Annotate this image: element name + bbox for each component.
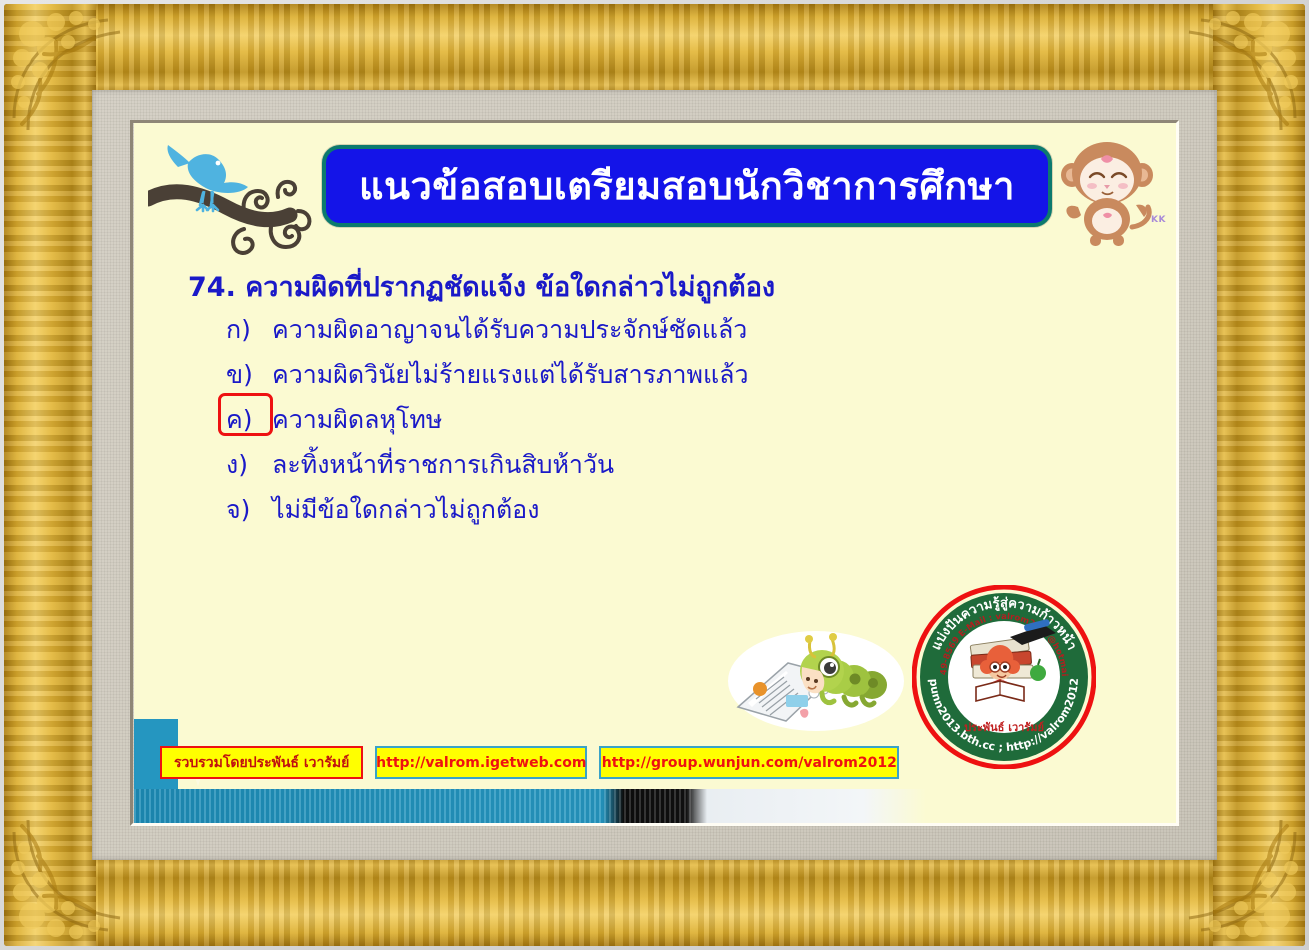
choice-label: ละทิ้งหน้าที่ราชการเกินสิบห้าวัน	[272, 445, 1126, 485]
monkey-mascot-icon	[1054, 135, 1162, 247]
caterpillar-reading-newspaper-icon	[726, 623, 906, 733]
choice-item-selected[interactable]: ค) ความผิดลหุโทษ	[226, 400, 1126, 445]
choice-key: จ)	[226, 490, 272, 530]
choice-item[interactable]: จ) ไม่มีข้อใดกล่าวไม่ถูกต้อง	[226, 490, 1126, 535]
choice-label: ไม่มีข้อใดกล่าวไม่ถูกต้อง	[272, 490, 1126, 530]
footer-link-igetweb[interactable]: http://valrom.igetweb.com	[375, 746, 587, 779]
question-text: 74. ความผิดที่ปรากฏชัดแจ้ง ข้อใดกล่าวไม่…	[188, 265, 775, 308]
choice-key: ง)	[226, 445, 272, 485]
choice-item[interactable]: ง) ละทิ้งหน้าที่ราชการเกินสิบห้าวัน	[226, 445, 1126, 490]
choice-key-highlighted: ค)	[226, 400, 272, 440]
bird-on-branch-icon	[148, 137, 348, 257]
slide-title: แนวข้อสอบเตรียมสอบนักวิชาการศึกษา	[359, 167, 1015, 205]
stamp-owner-name: ประพันธ์ เวารัมย์	[964, 721, 1044, 734]
picture-frame: แนวข้อสอบเตรียมสอบนักวิชาการศึกษา	[4, 4, 1305, 946]
footer-credit-box[interactable]: รวบรวมโดยประพันธ์ เวารัมย์	[160, 746, 363, 779]
choice-key: ข)	[226, 355, 272, 395]
choice-item[interactable]: ก) ความผิดอาญาจนได้รับความประจักษ์ชัดแล้…	[226, 310, 1126, 355]
organization-stamp-badge: แบ่งปันความรู้สู่ความก้าวหน้า http://pun…	[912, 585, 1096, 769]
choice-key: ก)	[226, 310, 272, 350]
footer-link-wunjun[interactable]: http://group.wunjun.com/valrom2012	[599, 746, 899, 779]
slide-title-banner: แนวข้อสอบเตรียมสอบนักวิชาการศึกษา	[322, 145, 1052, 227]
presentation-slide: แนวข้อสอบเตรียมสอบนักวิชาการศึกษา	[134, 123, 1176, 823]
bottom-decor-band-stripes	[134, 789, 694, 823]
choice-label: ความผิดลหุโทษ	[272, 400, 1126, 440]
choice-label: ความผิดวินัยไม่ร้ายแรงแต่ได้รับสารภาพแล้…	[272, 355, 1126, 395]
choice-item[interactable]: ข) ความผิดวินัยไม่ร้ายแรงแต่ได้รับสารภาพ…	[226, 355, 1126, 400]
footer-links: รวบรวมโดยประพันธ์ เวารัมย์ http://valrom…	[160, 746, 899, 779]
frame-edge-top	[4, 4, 1305, 96]
frame-edge-bottom	[4, 854, 1305, 946]
choice-list: ก) ความผิดอาญาจนได้รับความประจักษ์ชัดแล้…	[226, 310, 1126, 535]
monkey-watermark: KK	[1151, 215, 1166, 225]
choice-label: ความผิดอาญาจนได้รับความประจักษ์ชัดแล้ว	[272, 310, 1126, 350]
